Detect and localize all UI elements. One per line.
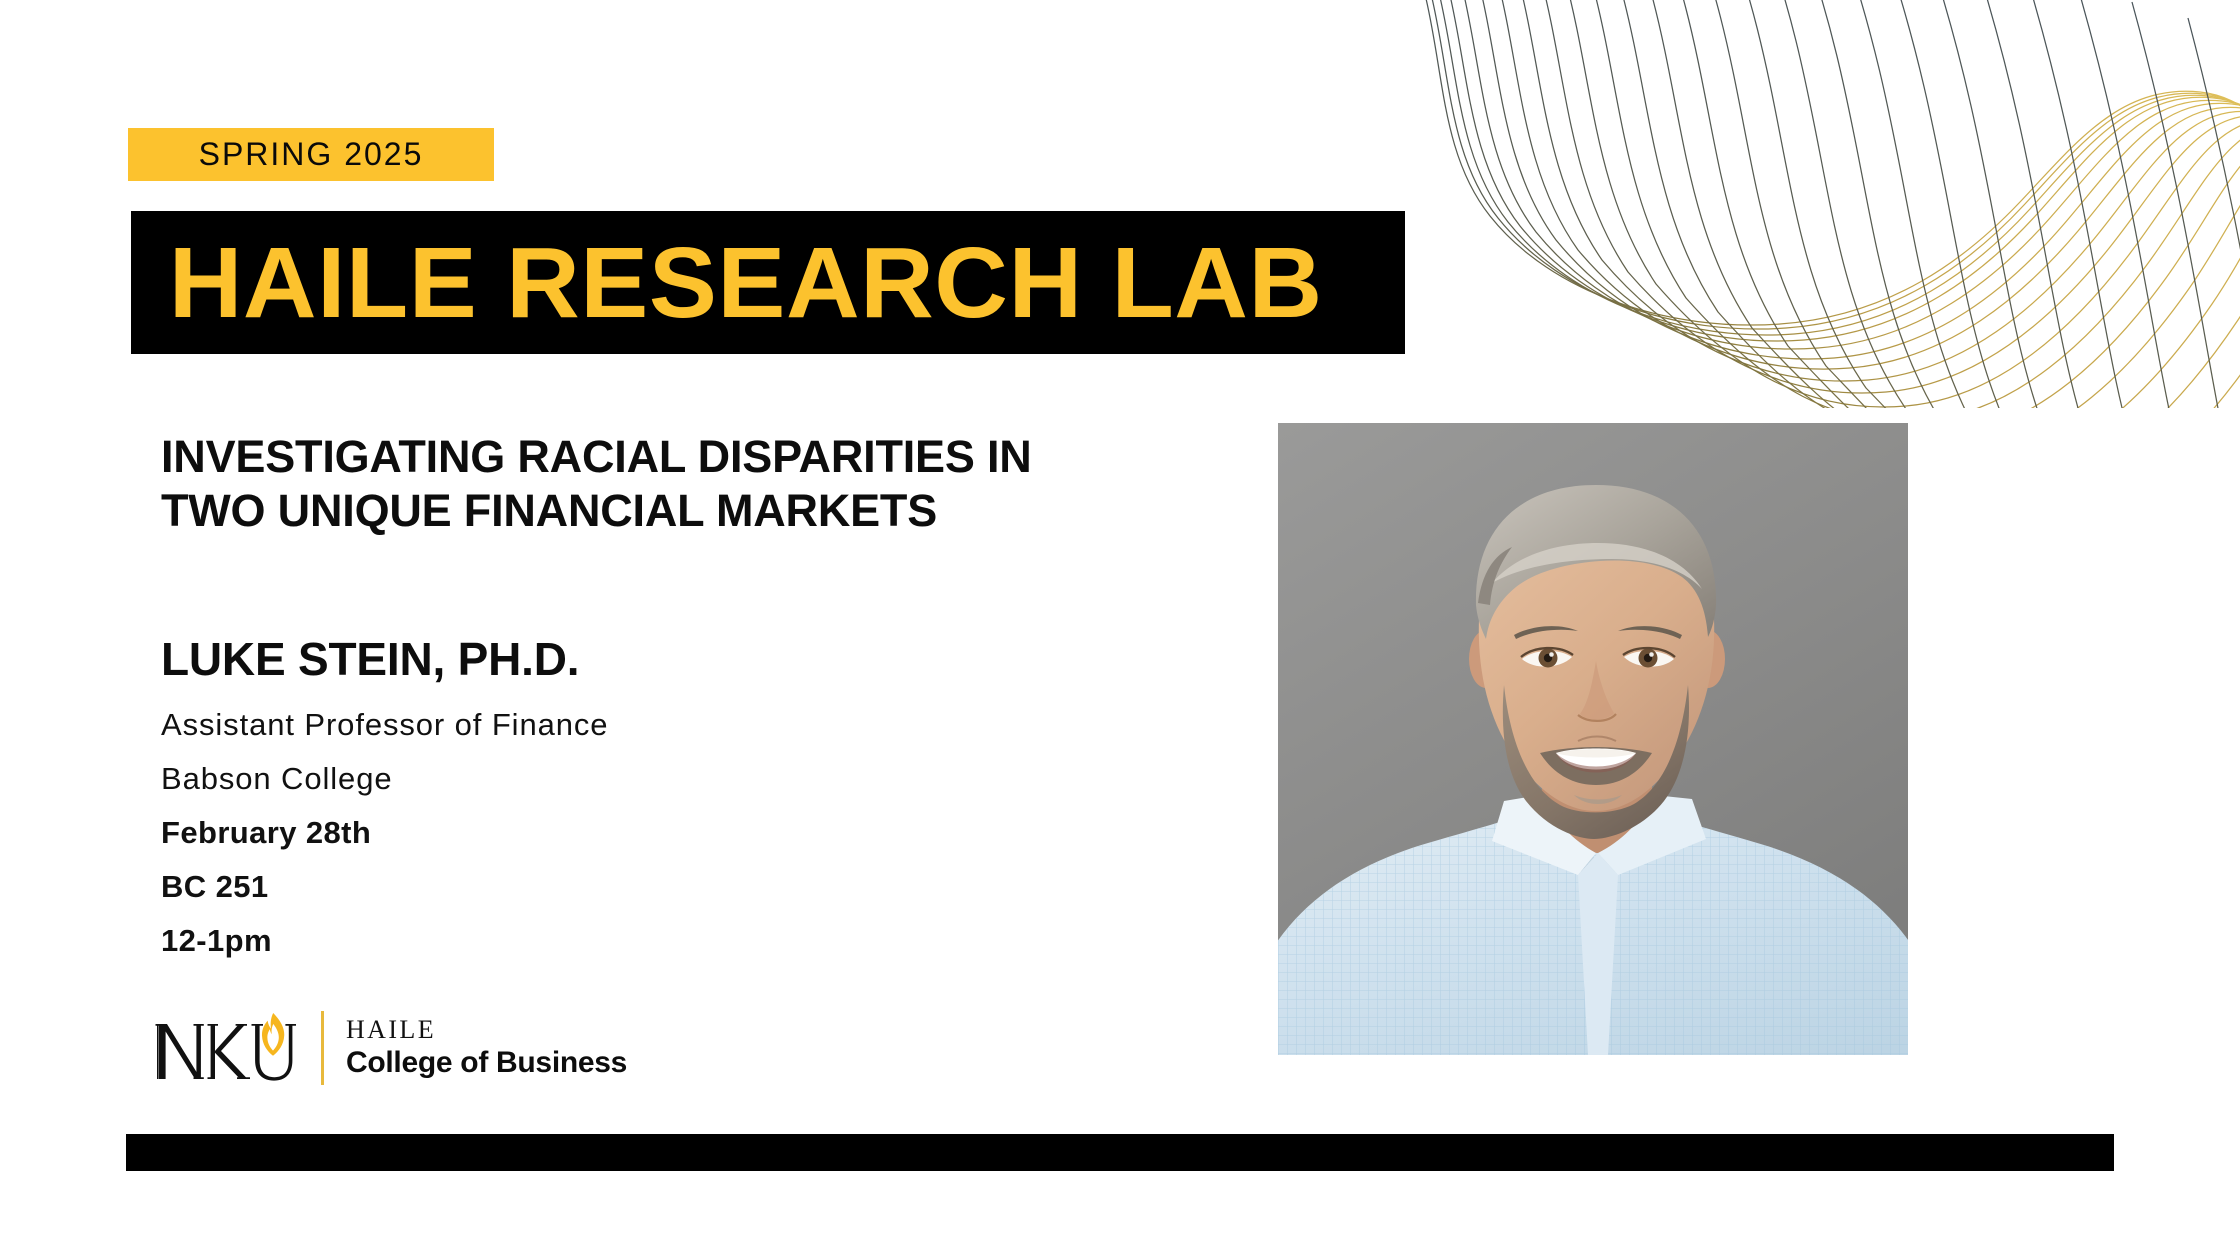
event-location: BC 251 bbox=[161, 860, 921, 914]
speaker-photo bbox=[1278, 423, 1908, 1055]
speaker-affiliation: Babson College bbox=[161, 752, 921, 806]
speaker-details: LUKE STEIN, PH.D. Assistant Professor of… bbox=[161, 632, 921, 968]
talk-title: INVESTIGATING RACIAL DISPARITIES IN TWO … bbox=[161, 430, 1221, 538]
event-time: 12-1pm bbox=[161, 914, 921, 968]
nku-wordmark-icon bbox=[155, 1011, 305, 1085]
speaker-name: LUKE STEIN, PH.D. bbox=[161, 632, 921, 686]
decorative-contour-lines bbox=[1420, 0, 2240, 408]
bottom-accent-bar bbox=[126, 1134, 2114, 1171]
logo-unit-name: HAILE bbox=[346, 1015, 627, 1045]
series-title-banner: HAILE RESEARCH LAB bbox=[131, 211, 1405, 354]
talk-title-line-1: INVESTIGATING RACIAL DISPARITIES IN bbox=[161, 430, 1221, 484]
logo-unit-subtitle: College of Business bbox=[346, 1045, 627, 1081]
nku-haile-logo: HAILE College of Business bbox=[155, 1005, 627, 1091]
series-title-text: HAILE RESEARCH LAB bbox=[131, 233, 1323, 333]
flame-icon bbox=[262, 1013, 284, 1056]
season-badge-label: SPRING 2025 bbox=[199, 136, 424, 173]
speaker-position: Assistant Professor of Finance bbox=[161, 698, 921, 752]
logo-divider bbox=[321, 1011, 324, 1085]
talk-title-line-2: TWO UNIQUE FINANCIAL MARKETS bbox=[161, 484, 1221, 538]
event-date: February 28th bbox=[161, 806, 921, 860]
logo-wordmark: HAILE College of Business bbox=[346, 1015, 627, 1081]
season-badge: SPRING 2025 bbox=[128, 128, 494, 181]
